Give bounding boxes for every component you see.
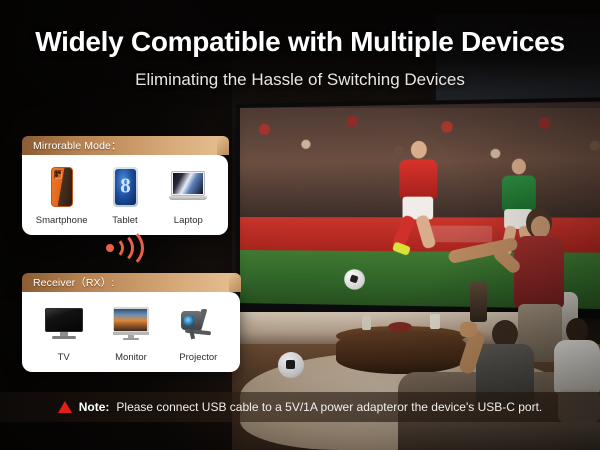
receiver-device-list: TV Monitor Pro: [22, 292, 240, 372]
device-card-tablet[interactable]: Tablet: [94, 166, 156, 226]
device-card-smartphone[interactable]: Smartphone: [31, 166, 93, 226]
mirrorable-mode-panel: Mirrorable Mode： Smartphone Tablet: [22, 136, 228, 235]
tablet-icon: [105, 166, 145, 208]
device-card-laptop[interactable]: Laptop: [157, 166, 219, 226]
device-card-projector[interactable]: Projector: [167, 303, 229, 363]
device-label: Tablet: [112, 215, 137, 226]
device-card-monitor[interactable]: Monitor: [100, 303, 162, 363]
note-text: Please connect USB cable to a 5V/1A powe…: [116, 400, 542, 414]
page-subtitle: Eliminating the Hassle of Switching Devi…: [0, 70, 600, 90]
monitor-icon: [111, 303, 151, 345]
note-bar: Note: Please connect USB cable to a 5V/1…: [0, 392, 600, 422]
device-label: Laptop: [174, 215, 203, 226]
device-label: Smartphone: [36, 215, 88, 226]
device-label: Projector: [179, 352, 217, 363]
receiver-panel-title: Receiver（RX）:: [22, 275, 114, 290]
mirrorable-panel-title: Mirrorable Mode：: [22, 138, 122, 153]
warning-triangle-icon: [58, 401, 72, 413]
tv-icon: [44, 303, 84, 345]
receiver-panel: Receiver（RX）: TV Monitor: [22, 273, 240, 372]
smartphone-icon: [42, 166, 82, 208]
device-label: TV: [58, 352, 70, 363]
mirrorable-panel-header: Mirrorable Mode：: [22, 136, 228, 155]
page-title: Widely Compatible with Multiple Devices: [0, 26, 600, 58]
wifi-arc: [102, 227, 144, 269]
device-label: Monitor: [115, 352, 147, 363]
mirrorable-device-list: Smartphone Tablet Laptop: [22, 155, 228, 235]
note-label: Note:: [79, 400, 110, 414]
projector-icon: [178, 303, 218, 345]
device-card-tv[interactable]: TV: [33, 303, 95, 363]
wifi-cast-icon: [103, 231, 143, 265]
receiver-panel-header: Receiver（RX）:: [22, 273, 240, 292]
laptop-icon: [168, 166, 208, 208]
